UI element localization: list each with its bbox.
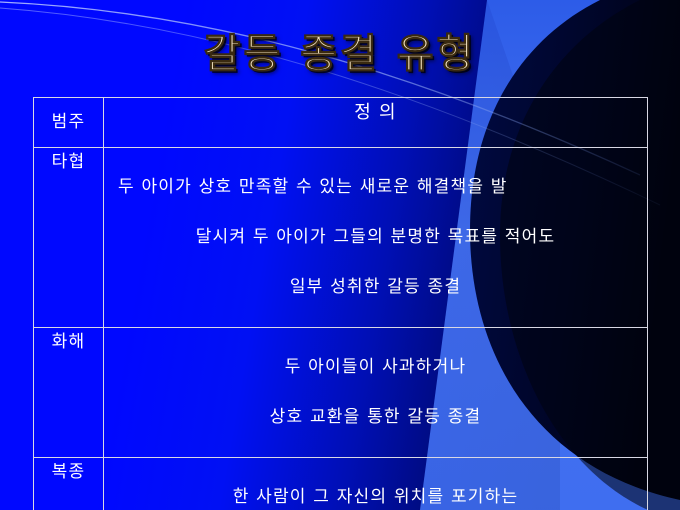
definition-line: 달시켜 두 아이가 그들의 분명한 목표를 적어도 [108,225,643,250]
definition-line: 두 아이가 상호 만족할 수 있는 새로운 해결책을 발 [108,175,643,200]
cell-category-reconciliation: 화해 [34,328,104,458]
cell-category-submission: 복종 [34,458,104,510]
conflict-resolution-table: 범주 정 의 타협 두 아이가 상호 만족할 수 있는 새로운 해결책을 발 달… [33,97,648,510]
cell-definition-submission: 한 사람이 그 자신의 위치를 포기하는 언어적 또는 물리적 행동에 의한 갈… [104,458,648,510]
header-cell-definition: 정 의 [104,98,648,148]
table-row: 타협 두 아이가 상호 만족할 수 있는 새로운 해결책을 발 달시켜 두 아이… [34,148,648,328]
cell-definition-reconciliation: 두 아이들이 사과하거나 상호 교환을 통한 갈등 종결 [104,328,648,458]
cell-definition-compromise: 두 아이가 상호 만족할 수 있는 새로운 해결책을 발 달시켜 두 아이가 그… [104,148,648,328]
table-header-row: 범주 정 의 [34,98,648,148]
definition-line: 두 아이들이 사과하거나 [108,355,643,380]
slide-title: 갈등 종결 유형 [0,30,680,78]
header-cell-category: 범주 [34,98,104,148]
slide-canvas: 갈등 종결 유형 범주 정 의 타협 두 아이가 상호 만족할 수 있는 새로운… [0,0,680,510]
definition-line: 상호 교환을 통한 갈등 종결 [108,405,643,430]
table-row: 화해 두 아이들이 사과하거나 상호 교환을 통한 갈등 종결 [34,328,648,458]
definition-line: 한 사람이 그 자신의 위치를 포기하는 [108,485,643,510]
conflict-table-container: 범주 정 의 타협 두 아이가 상호 만족할 수 있는 새로운 해결책을 발 달… [33,97,647,471]
definition-line: 일부 성취한 갈등 종결 [108,275,643,300]
table-row: 복종 한 사람이 그 자신의 위치를 포기하는 언어적 또는 물리적 행동에 의… [34,458,648,510]
cell-category-compromise: 타협 [34,148,104,328]
